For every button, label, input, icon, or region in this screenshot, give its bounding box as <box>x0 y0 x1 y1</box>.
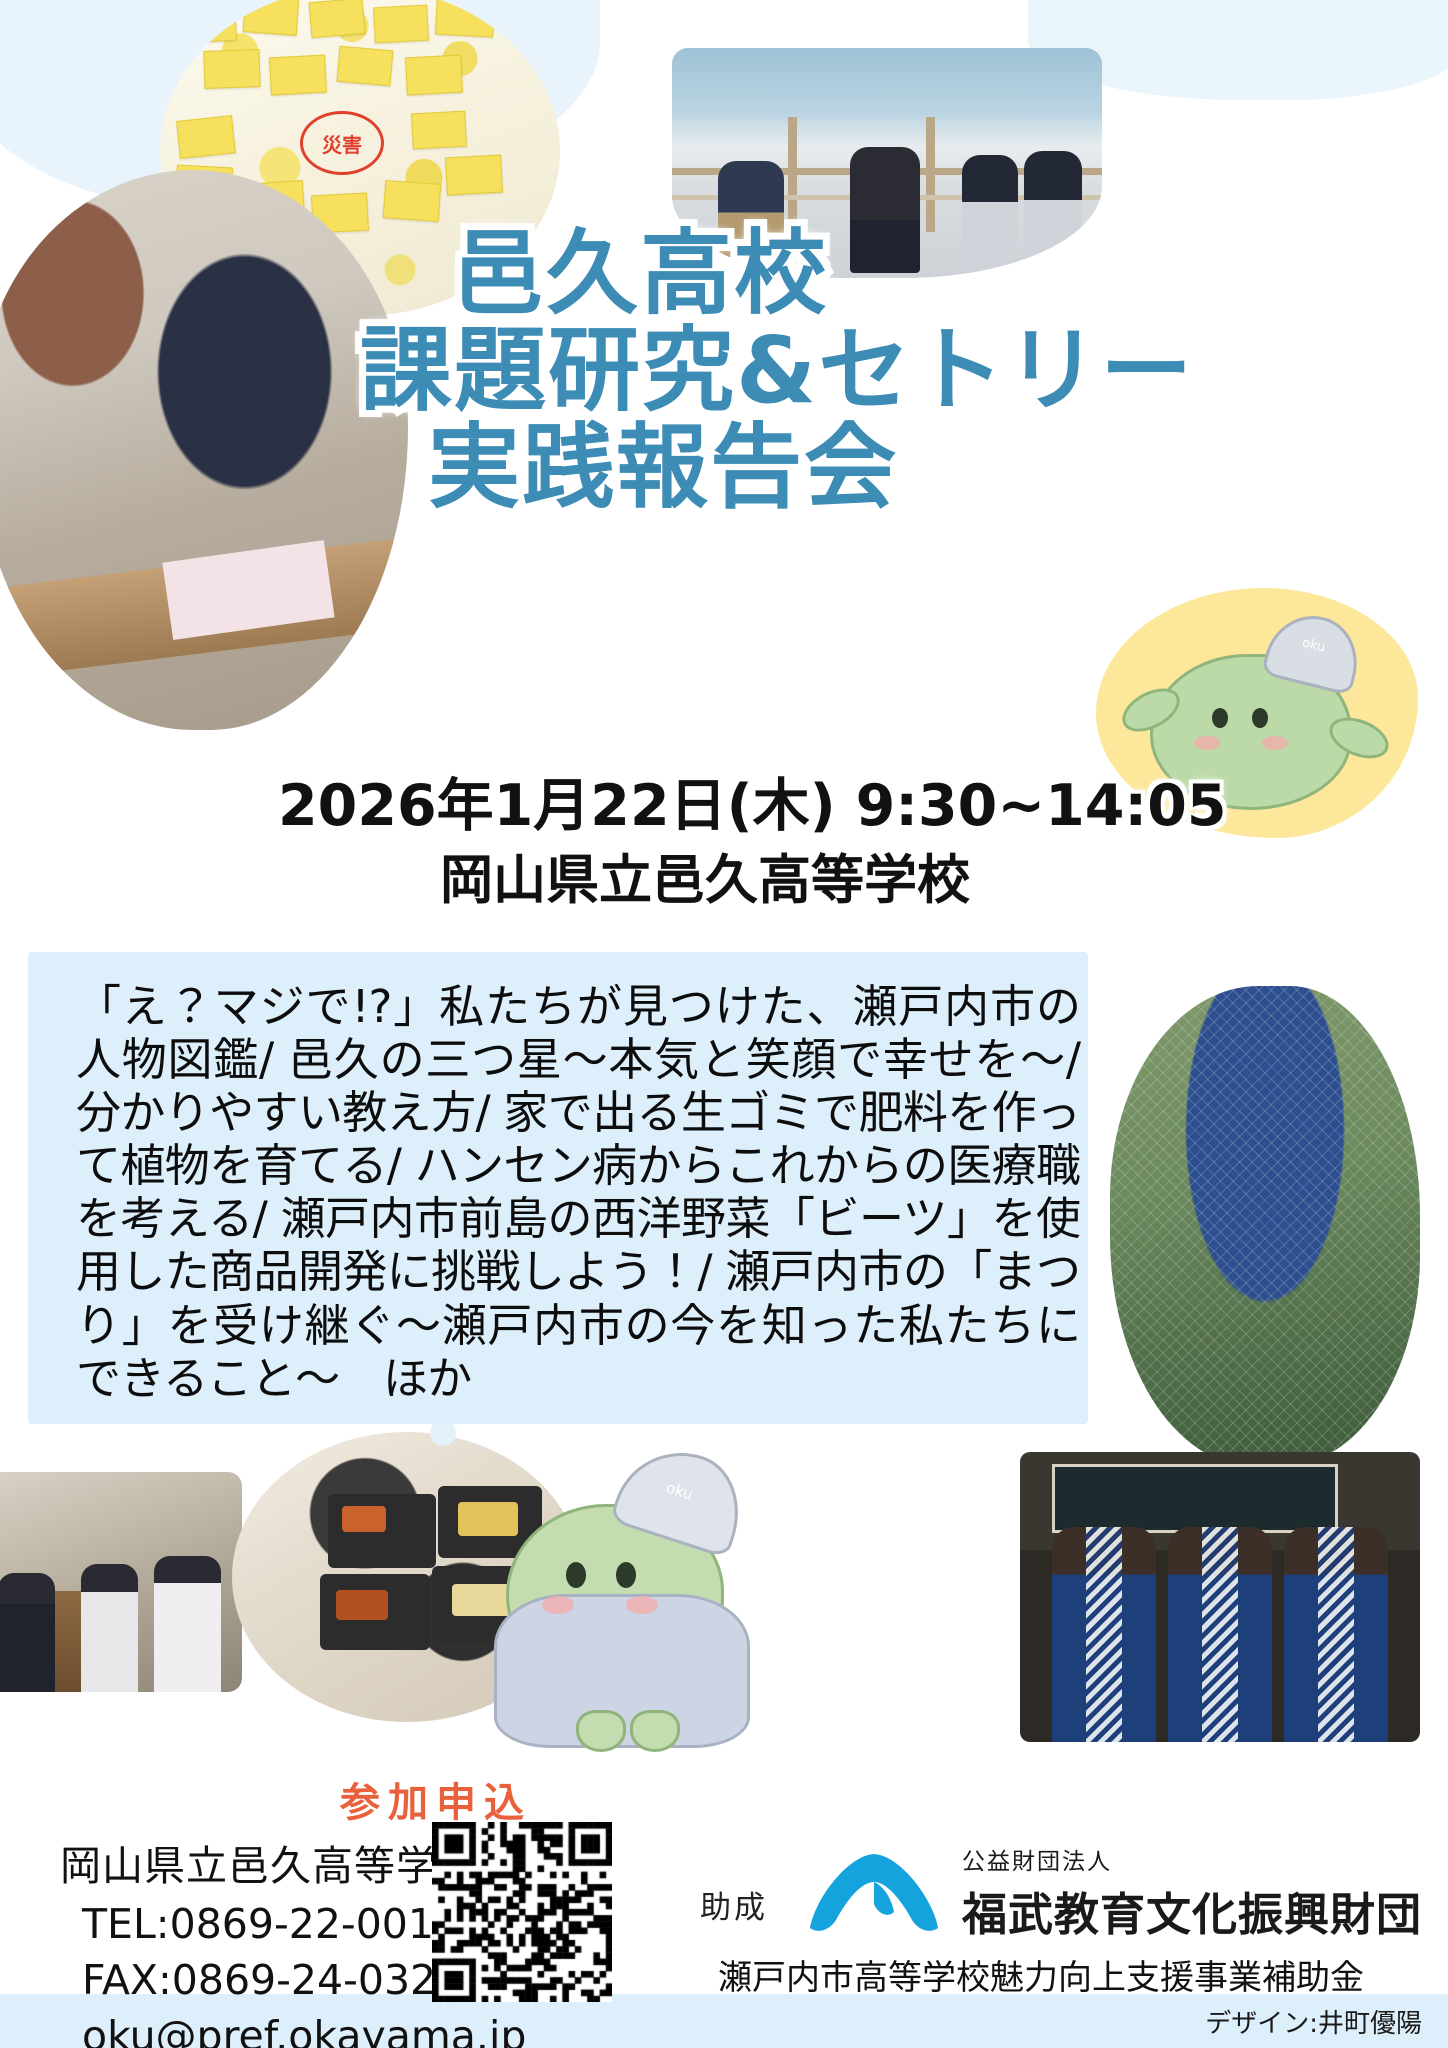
title-line-2: 課題研究&セトリー <box>360 319 1420 422</box>
contact-email[interactable]: oku@pref.okayama.jp <box>60 2012 526 2048</box>
title-line-1: 邑久高校 <box>360 222 1420 325</box>
fukutake-logo-icon <box>800 1842 948 1934</box>
photo-students-in-happi-coats <box>1020 1452 1420 1742</box>
poster-root: 災害 <box>0 0 1448 2048</box>
subsidy-program-text: 瀬戸内市高等学校魅力向上支援事業補助金 <box>718 1950 1364 1999</box>
research-topics-panel: 「え？マジで!?」私たちが見つけた、瀬戸内市の人物図鑑/ 邑久の三つ星～本気と笑… <box>28 952 1088 1424</box>
foundation-title: 福武教育文化振興財団 <box>962 1878 1422 1943</box>
event-datetime: 2026年1月22日(木) 9:30~14:05 <box>278 760 1227 842</box>
mindmap-center-label: 災害 <box>300 111 384 175</box>
apply-label: 参加申込 <box>340 1770 532 1828</box>
mascot-oku-large: oku <box>470 1438 770 1768</box>
qr-code[interactable] <box>432 1822 612 2002</box>
title-line-3: 実践報告会 <box>360 416 1420 519</box>
photo-student-cheering <box>1110 986 1420 1466</box>
photo-classroom-discussion <box>0 170 408 730</box>
designer-credit: デザイン:井町優陽 <box>1205 2003 1422 2040</box>
poster-title: 邑久高校 課題研究&セトリー 実践報告会 <box>360 222 1420 519</box>
research-topics-text: 「え？マジで!?」私たちが見つけた、瀬戸内市の人物図鑑/ 邑久の三つ星～本気と笑… <box>76 980 1080 1405</box>
photo-presentation <box>0 1472 242 1692</box>
funding-label: 助成 <box>700 1882 768 1927</box>
fukutake-foundation-name: 公益財団法人 福武教育文化振興財団 <box>962 1842 1422 1943</box>
foundation-kind: 公益財団法人 <box>962 1842 1422 1876</box>
event-venue: 岡山県立邑久高等学校 <box>440 838 970 914</box>
